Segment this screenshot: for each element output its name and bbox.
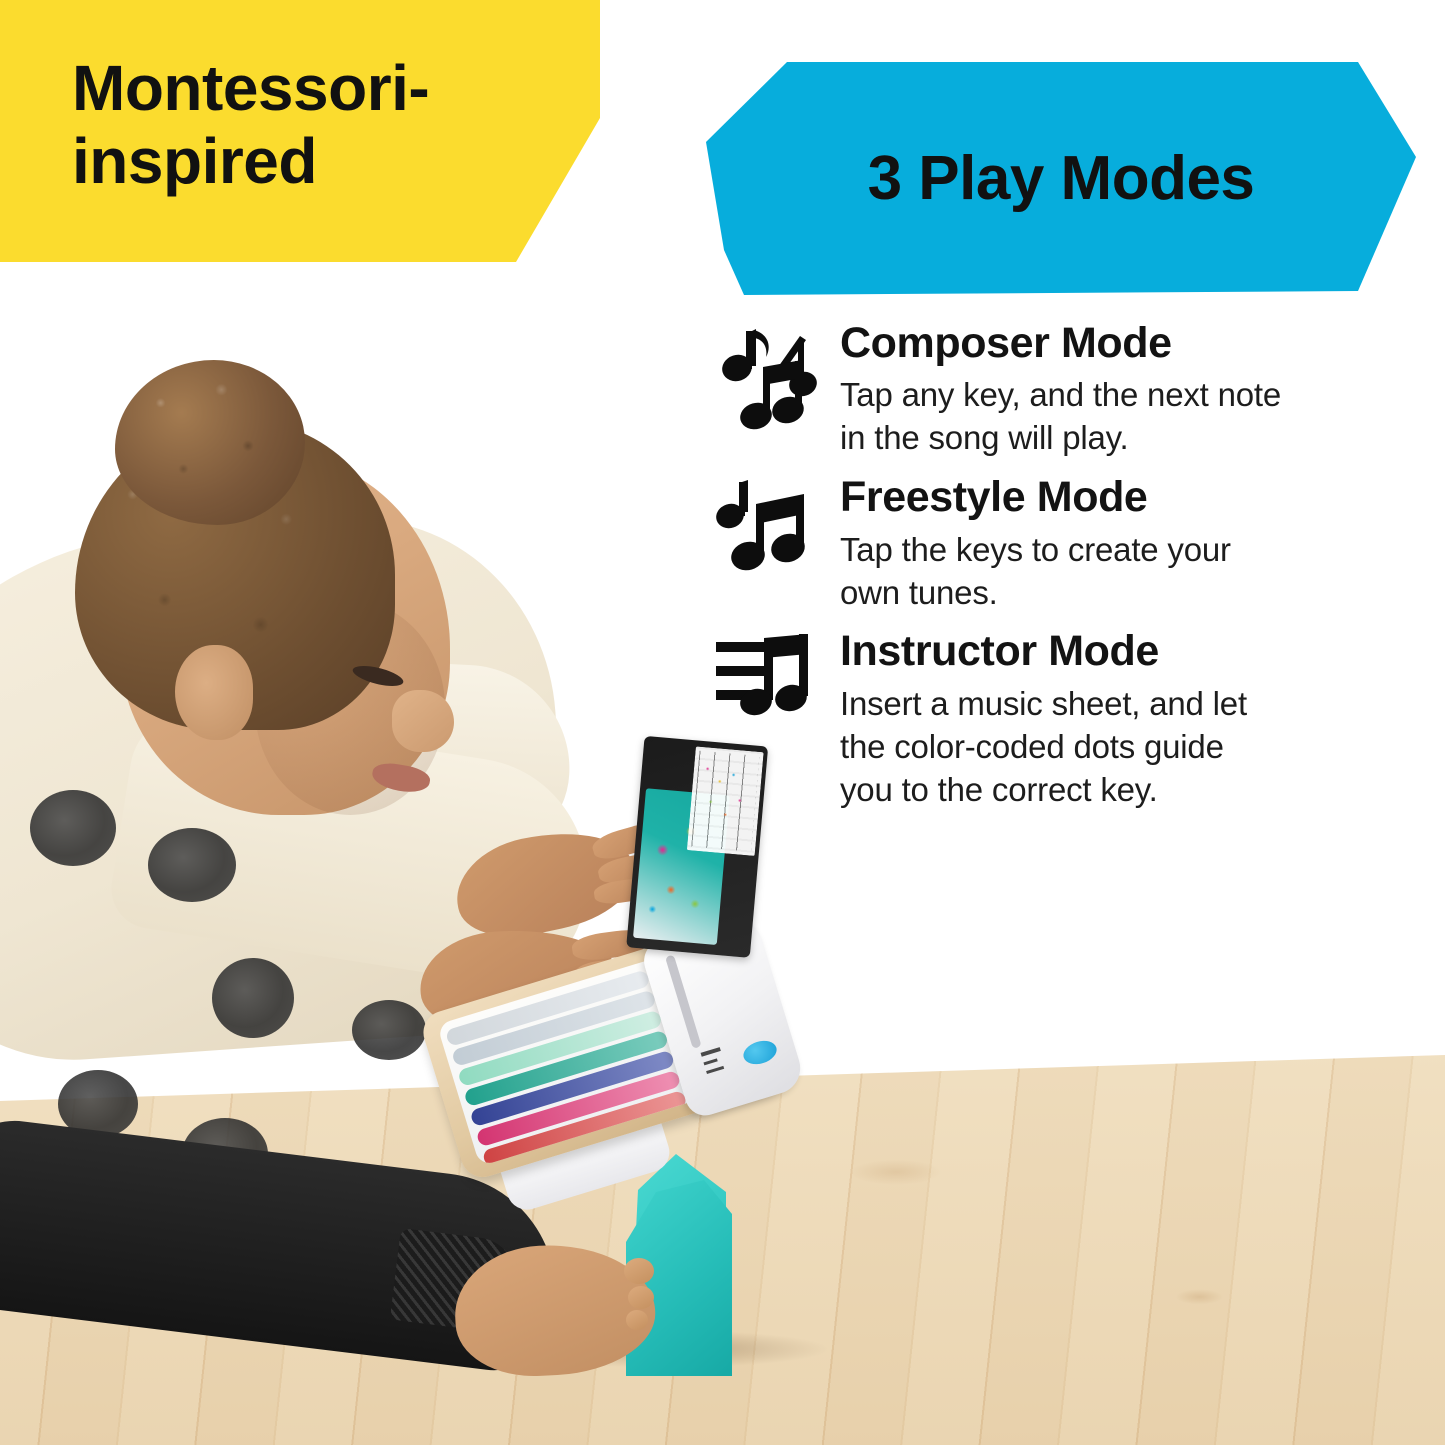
music-sheet-card bbox=[626, 736, 768, 958]
child-nose bbox=[392, 690, 454, 752]
sweater-dot bbox=[352, 1000, 426, 1060]
hair-bun-texture bbox=[115, 360, 305, 525]
mode-item-instructor: Instructor Mode Insert a music sheet, an… bbox=[716, 628, 1416, 811]
mode-description: Insert a music sheet, and let the color-… bbox=[840, 683, 1416, 812]
play-modes-list: Composer Mode Tap any key, and the next … bbox=[716, 320, 1416, 826]
sheet-color-dots-staff bbox=[687, 746, 764, 856]
child-hair-bun bbox=[115, 360, 305, 525]
toe bbox=[624, 1258, 654, 1284]
mode-text-freestyle: Freestyle Mode Tap the keys to create yo… bbox=[836, 474, 1416, 614]
mode-title: Composer Mode bbox=[840, 320, 1416, 366]
triple-music-note-icon bbox=[716, 320, 836, 430]
mode-description: Tap any key, and the next note in the so… bbox=[840, 374, 1416, 460]
mode-item-composer: Composer Mode Tap any key, and the next … bbox=[716, 320, 1416, 460]
mode-text-composer: Composer Mode Tap any key, and the next … bbox=[836, 320, 1416, 460]
play-modes-badge-title: 3 Play Modes bbox=[706, 62, 1416, 295]
sweater-dot bbox=[30, 790, 116, 866]
mode-title: Freestyle Mode bbox=[840, 474, 1416, 520]
toe bbox=[626, 1310, 648, 1330]
mode-title: Instructor Mode bbox=[840, 628, 1416, 674]
mode-item-freestyle: Freestyle Mode Tap the keys to create yo… bbox=[716, 474, 1416, 614]
montessori-badge-title: Montessori- inspired bbox=[72, 52, 592, 198]
music-staff-note-icon bbox=[716, 628, 836, 720]
sweater-dot bbox=[148, 828, 236, 902]
product-feature-card: Montessori- inspired 3 Play Modes bbox=[0, 0, 1445, 1445]
toe bbox=[628, 1286, 654, 1309]
mode-description: Tap the keys to create your own tunes. bbox=[840, 529, 1416, 615]
sheet-slot bbox=[665, 954, 702, 1048]
sweater-dot bbox=[212, 958, 294, 1038]
mode-indicator-icons bbox=[700, 1042, 739, 1083]
child-ear bbox=[175, 645, 253, 740]
mode-button bbox=[741, 1037, 780, 1068]
double-music-note-icon bbox=[716, 474, 836, 572]
mode-text-instructor: Instructor Mode Insert a music sheet, an… bbox=[836, 628, 1416, 811]
